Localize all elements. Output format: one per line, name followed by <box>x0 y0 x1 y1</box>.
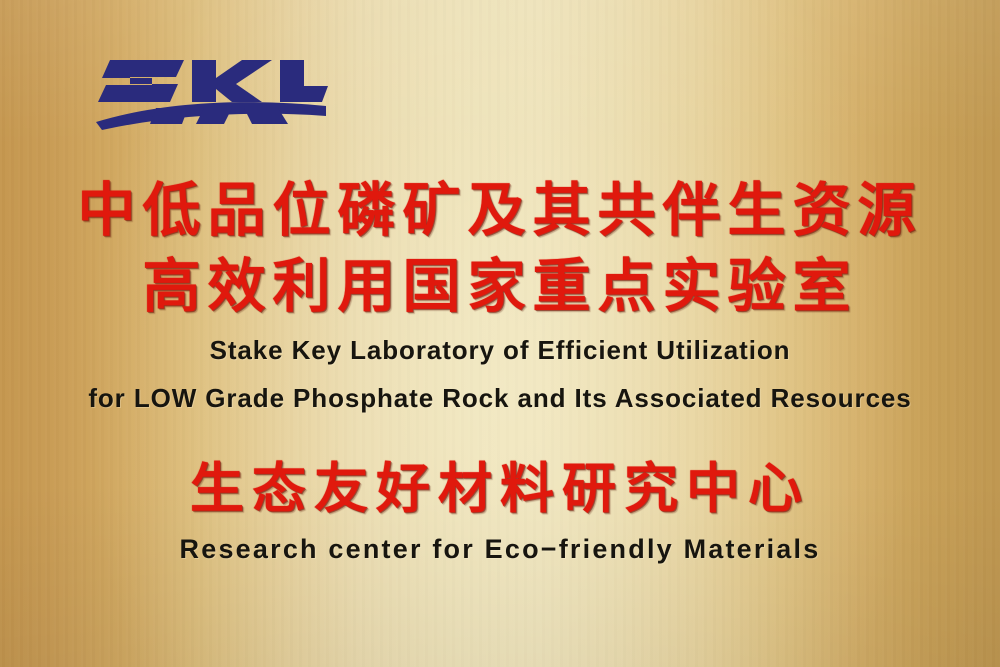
plaque-sign: 中低品位磷矿及其共伴生资源 高效利用国家重点实验室 Stake Key Labo… <box>0 0 1000 667</box>
skl-logo <box>92 48 332 140</box>
skl-logo-mark <box>92 48 332 140</box>
lab-name-en-line-1: Stake Key Laboratory of Efficient Utiliz… <box>0 334 1000 366</box>
research-center-cn-line-1: 生态友好材料研究中心 <box>0 458 1000 520</box>
lab-name-cn-line-2: 高效利用国家重点实验室 <box>0 254 1000 318</box>
lab-name-en-line-2: for LOW Grade Phosphate Rock and Its Ass… <box>0 382 1000 414</box>
lab-name-cn-line-1: 中低品位磷矿及其共伴生资源 <box>0 178 1000 242</box>
research-center-en-line-1: Research center for Eco−friendly Materia… <box>0 532 1000 566</box>
